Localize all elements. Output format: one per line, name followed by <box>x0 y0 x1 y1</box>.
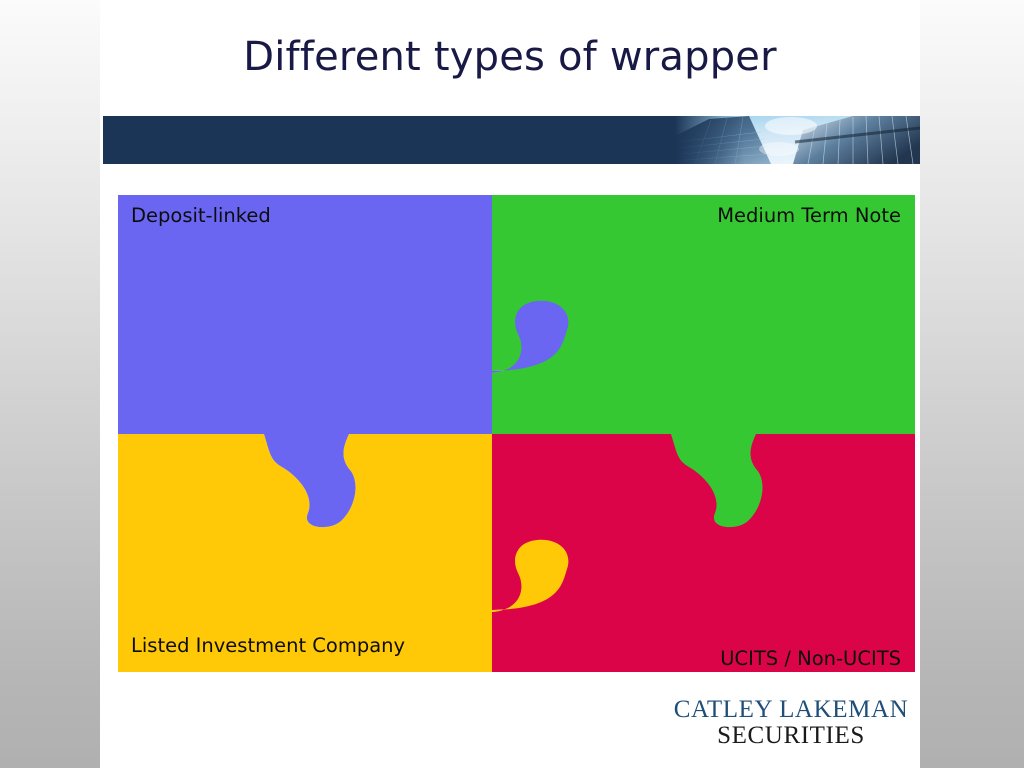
company-logo: CATLEY LAKEMAN SECURITIES <box>660 697 922 748</box>
logo-company-name: CATLEY LAKEMAN <box>660 697 922 723</box>
logo-company-division: SECURITIES <box>660 723 922 749</box>
skyscraper-photo-icon <box>675 116 920 164</box>
puzzle-label-deposit-linked: Deposit-linked <box>131 204 271 227</box>
puzzle-label-listed-investment-company: Listed Investment Company <box>131 634 405 657</box>
puzzle-svg <box>118 195 915 672</box>
slide-canvas: Different types of wrapper <box>100 0 920 768</box>
page-title: Different types of wrapper <box>100 34 920 80</box>
puzzle-label-ucits-non-ucits: UCITS / Non-UCITS <box>720 647 901 670</box>
puzzle-diagram: Deposit-linked Medium Term Note Listed I… <box>118 195 915 672</box>
header-banner <box>103 116 920 164</box>
skyscraper-photo-svg <box>675 116 920 164</box>
puzzle-label-medium-term-note: Medium Term Note <box>717 204 901 227</box>
